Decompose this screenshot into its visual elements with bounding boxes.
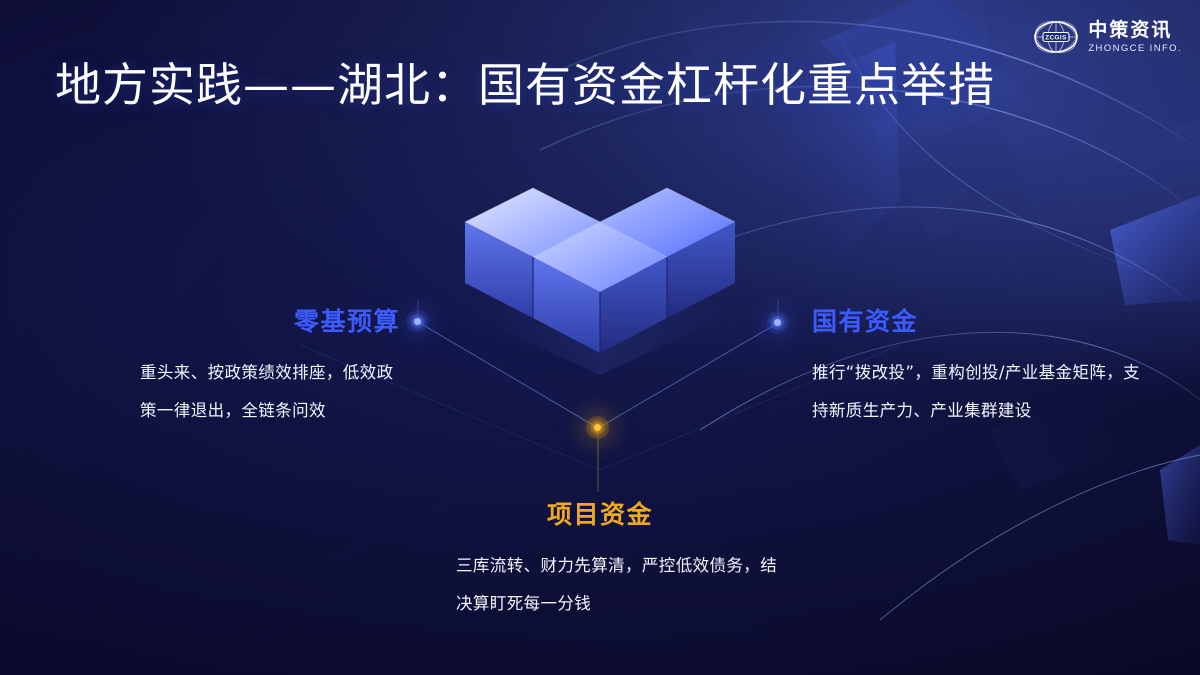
zcgis-mark-text: ZCGIS (1046, 34, 1068, 41)
node-core-right (774, 319, 781, 326)
node-core-bottom (594, 424, 601, 431)
node-dot-right (771, 316, 784, 329)
block-body-right: 推行“拨改投”，重构创投/产业基金矩阵，支持新质生产力、产业集群建设 (812, 354, 1152, 429)
node-core-left (414, 318, 421, 325)
logo-company-cn: 中策资讯 (1088, 21, 1182, 40)
block-heading-bottom: 项目资金 (420, 495, 780, 531)
block-body-bottom: 三库流转、财力先算清，严控低效债务，结决算盯死每一分钱 (420, 547, 780, 622)
slide-canvas: ZCGIS 中策资讯 ZHONGCE INFO. 地方实践——湖北：国有资金杠杆… (0, 0, 1200, 675)
block-heading-left: 零基预算 (50, 302, 400, 338)
node-dot-left (411, 315, 424, 328)
block-zero-based-budget: 零基预算 重头来、按政策绩效排座，低效政策一律退出，全链条问效 (50, 302, 400, 429)
block-project-funds: 项目资金 三库流转、财力先算清，严控低效债务，结决算盯死每一分钱 (420, 495, 780, 622)
node-dot-bottom (591, 421, 604, 434)
brand-logo: ZCGIS 中策资讯 ZHONGCE INFO. (1033, 14, 1182, 60)
isometric-cubes-graphic (465, 188, 735, 375)
block-heading-right: 国有资金 (812, 302, 1152, 338)
block-state-owned-capital: 国有资金 推行“拨改投”，重构创投/产业基金矩阵，支持新质生产力、产业集群建设 (812, 302, 1152, 429)
block-body-left: 重头来、按政策绩效排座，低效政策一律退出，全链条问效 (50, 354, 400, 429)
logo-company-en: ZHONGCE INFO. (1088, 44, 1182, 54)
zcgis-globe-icon: ZCGIS (1033, 14, 1079, 60)
page-title: 地方实践——湖北：国有资金杠杆化重点举措 (55, 58, 995, 112)
